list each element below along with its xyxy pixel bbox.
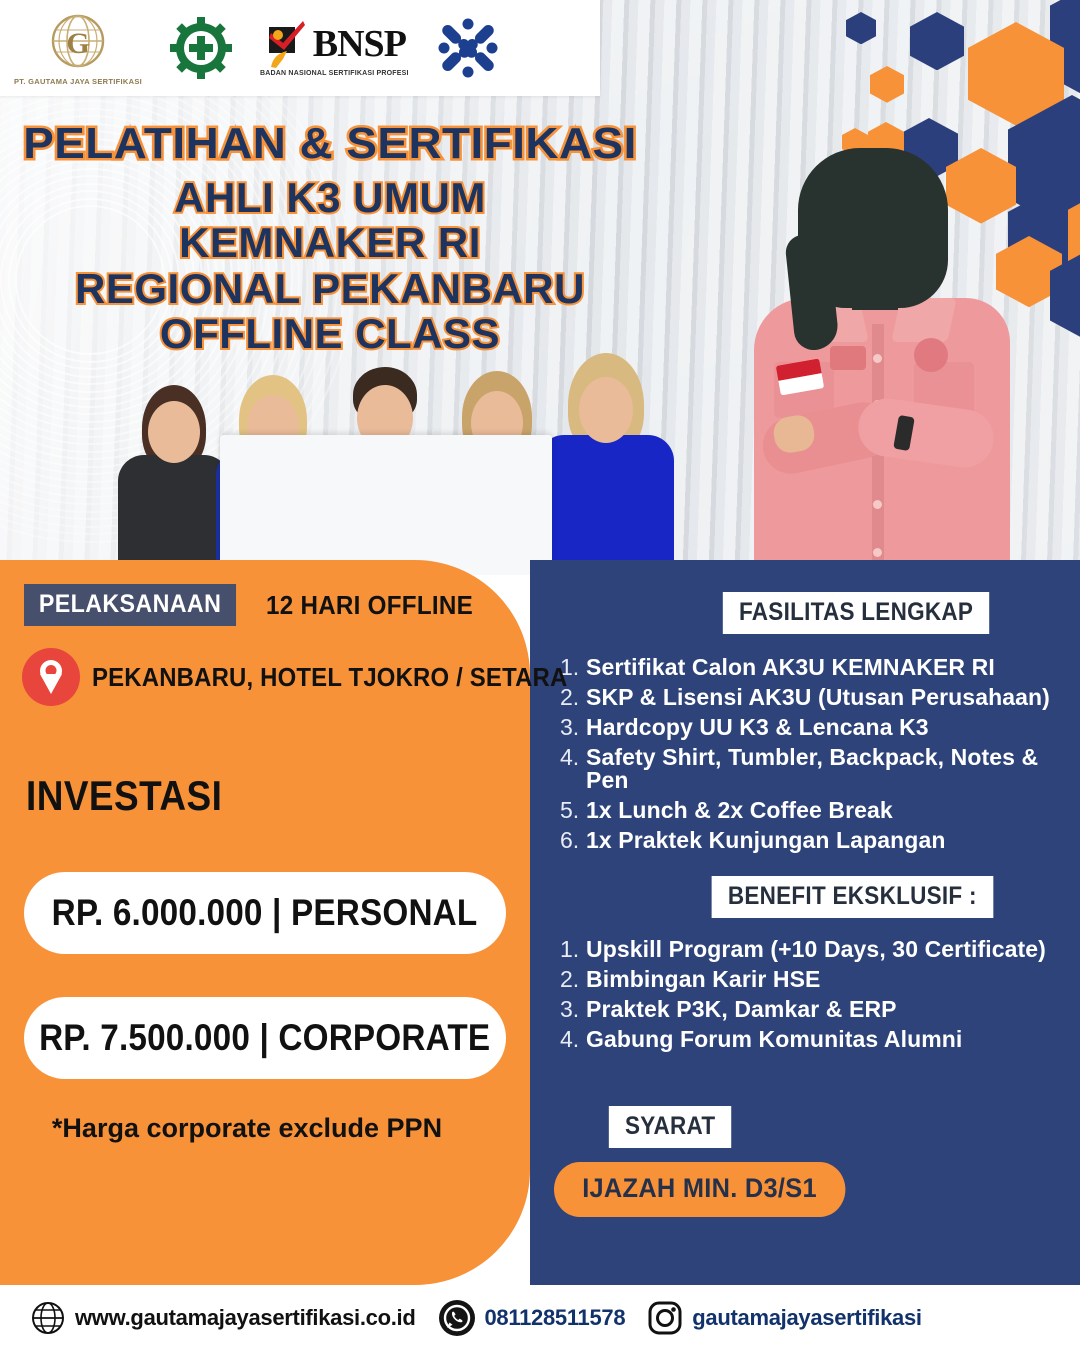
headline-sub: AHLI K3 UMUM KEMNAKER RI REGIONAL PEKANB… bbox=[0, 175, 660, 356]
fasilitas-text: 1x Lunch & 2x Coffee Break bbox=[586, 799, 893, 822]
bnsp-wordmark: BNSP bbox=[313, 25, 406, 63]
hexagon-shape bbox=[910, 12, 964, 70]
ppn-note: *Harga corporate exclude PPN bbox=[0, 1113, 530, 1144]
k3-gear-logo bbox=[170, 17, 232, 79]
fasilitas-item: 1.Sertifikat Calon AK3U KEMNAKER RI bbox=[560, 656, 1080, 679]
price-pill-personal: RP. 6.000.000 | PERSONAL bbox=[24, 872, 506, 954]
price-pill-corporate: RP. 7.500.000 | CORPORATE bbox=[24, 997, 506, 1079]
fasilitas-text: Hardcopy UU K3 & Lencana K3 bbox=[586, 716, 929, 739]
fasilitas-number: 6. bbox=[560, 829, 586, 852]
fasilitas-number: 5. bbox=[560, 799, 586, 822]
bnsp-caption: BADAN NASIONAL SERTIFIKASI PROFESI bbox=[260, 70, 409, 77]
safety-gear-icon bbox=[170, 17, 232, 79]
whatsapp-contact[interactable]: 081128511578 bbox=[438, 1299, 626, 1337]
instagram-handle: gautamajayasertifikasi bbox=[692, 1305, 921, 1331]
benefit-heading: BENEFIT EKSKLUSIF : bbox=[712, 876, 993, 918]
benefit-number: 1. bbox=[560, 938, 586, 961]
benefit-item: 4.Gabung Forum Komunitas Alumni bbox=[560, 1028, 1046, 1051]
website-contact[interactable]: www.gautamajayasertifikasi.co.id bbox=[30, 1300, 416, 1336]
headline-line-4: OFFLINE CLASS bbox=[0, 311, 660, 356]
fasilitas-item: 3.Hardcopy UU K3 & Lencana K3 bbox=[560, 716, 1080, 739]
benefit-text: Praktek P3K, Damkar & ERP bbox=[586, 998, 897, 1021]
whatsapp-icon bbox=[438, 1299, 476, 1337]
benefit-text: Gabung Forum Komunitas Alumni bbox=[586, 1028, 962, 1051]
pelaksanaan-value: 12 HARI OFFLINE bbox=[266, 590, 473, 621]
headline-block: PELATIHAN & SERTIFIKASI AHLI K3 UMUM KEM… bbox=[0, 120, 660, 356]
benefit-item: 3.Praktek P3K, Damkar & ERP bbox=[560, 998, 1046, 1021]
bnsp-mark-icon bbox=[263, 19, 309, 69]
logo-bar: G PT. GAUTAMA JAYA SERTIFIKASI bbox=[0, 0, 600, 96]
fasilitas-heading: FASILITAS LENGKAP bbox=[723, 592, 990, 634]
right-info-panel: FASILITAS LENGKAP 1.Sertifikat Calon AK3… bbox=[530, 560, 1080, 1285]
headline-line-2: KEMNAKER RI bbox=[0, 220, 660, 265]
hexagon-shape bbox=[870, 66, 904, 103]
knitted-blue-logo bbox=[437, 17, 499, 79]
pelaksanaan-row: PELAKSANAAN 12 HARI OFFLINE bbox=[24, 584, 489, 626]
price-corporate-text: RP. 7.500.000 | CORPORATE bbox=[39, 1017, 490, 1059]
benefit-list: 1.Upskill Program (+10 Days, 30 Certific… bbox=[560, 938, 1046, 1058]
left-pricing-panel: PELAKSANAAN 12 HARI OFFLINE PEKANBARU, H… bbox=[0, 560, 530, 1285]
gautama-jaya-logo: G PT. GAUTAMA JAYA SERTIFIKASI bbox=[14, 11, 142, 86]
benefit-text: Upskill Program (+10 Days, 30 Certificat… bbox=[586, 938, 1046, 961]
price-personal-text: RP. 6.000.000 | PERSONAL bbox=[52, 892, 478, 934]
contact-footer: www.gautamajayasertifikasi.co.id 0811285… bbox=[0, 1285, 1080, 1350]
globe-seal-icon: G bbox=[46, 11, 110, 75]
benefit-text: Bimbingan Karir HSE bbox=[586, 968, 821, 991]
headline-line-1: AHLI K3 UMUM bbox=[0, 175, 660, 220]
benefit-number: 4. bbox=[560, 1028, 586, 1051]
fasilitas-number: 3. bbox=[560, 716, 586, 739]
location-text: PEKANBARU, HOTEL TJOKRO / SETARA bbox=[92, 662, 567, 693]
website-text: www.gautamajayasertifikasi.co.id bbox=[75, 1305, 416, 1331]
group-photo bbox=[105, 342, 685, 575]
syarat-value-pill: IJAZAH MIN. D3/S1 bbox=[554, 1162, 845, 1217]
benefit-number: 2. bbox=[560, 968, 586, 991]
fasilitas-item: 2.SKP & Lisensi AK3U (Utusan Perusahaan) bbox=[560, 686, 1080, 709]
fasilitas-item: 5.1x Lunch & 2x Coffee Break bbox=[560, 799, 1080, 822]
benefit-item: 2.Bimbingan Karir HSE bbox=[560, 968, 1046, 991]
location-row: PEKANBARU, HOTEL TJOKRO / SETARA bbox=[22, 648, 609, 706]
investasi-title: INVESTASI bbox=[26, 772, 222, 820]
weave-diamond-icon bbox=[437, 17, 499, 79]
fasilitas-item: 4.Safety Shirt, Tumbler, Backpack, Notes… bbox=[560, 746, 1080, 792]
pelaksanaan-label: PELAKSANAAN bbox=[24, 584, 236, 626]
bnsp-logo: BNSP BADAN NASIONAL SERTIFIKASI PROFESI bbox=[260, 19, 409, 77]
instagram-contact[interactable]: gautamajayasertifikasi bbox=[647, 1300, 921, 1336]
globe-icon bbox=[30, 1300, 66, 1336]
headline-line-3: REGIONAL PEKANBARU bbox=[0, 266, 660, 311]
fasilitas-text: SKP & Lisensi AK3U (Utusan Perusahaan) bbox=[586, 686, 1050, 709]
fasilitas-list: 1.Sertifikat Calon AK3U KEMNAKER RI2.SKP… bbox=[560, 656, 1080, 859]
hexagon-shape bbox=[846, 12, 876, 44]
fasilitas-text: Safety Shirt, Tumbler, Backpack, Notes &… bbox=[586, 746, 1080, 792]
fasilitas-text: 1x Praktek Kunjungan Lapangan bbox=[586, 829, 945, 852]
fasilitas-text: Sertifikat Calon AK3U KEMNAKER RI bbox=[586, 656, 995, 679]
whatsapp-number: 081128511578 bbox=[485, 1305, 626, 1331]
headline-main: PELATIHAN & SERTIFIKASI bbox=[13, 120, 647, 169]
syarat-heading: SYARAT bbox=[609, 1106, 732, 1148]
fasilitas-item: 6.1x Praktek Kunjungan Lapangan bbox=[560, 829, 1080, 852]
instagram-icon bbox=[647, 1300, 683, 1336]
benefit-item: 1.Upskill Program (+10 Days, 30 Certific… bbox=[560, 938, 1046, 961]
person-5 bbox=[535, 353, 677, 575]
fasilitas-number: 4. bbox=[560, 746, 586, 769]
svg-text:G: G bbox=[66, 27, 89, 60]
blank-whiteboard bbox=[220, 435, 552, 575]
benefit-number: 3. bbox=[560, 998, 586, 1021]
gautama-jaya-caption: PT. GAUTAMA JAYA SERTIFIKASI bbox=[14, 77, 142, 86]
instructor-photo bbox=[746, 148, 1018, 575]
poster-root: G PT. GAUTAMA JAYA SERTIFIKASI bbox=[0, 0, 1080, 1350]
hero-section: G PT. GAUTAMA JAYA SERTIFIKASI bbox=[0, 0, 1080, 575]
location-pin-icon bbox=[22, 648, 80, 706]
